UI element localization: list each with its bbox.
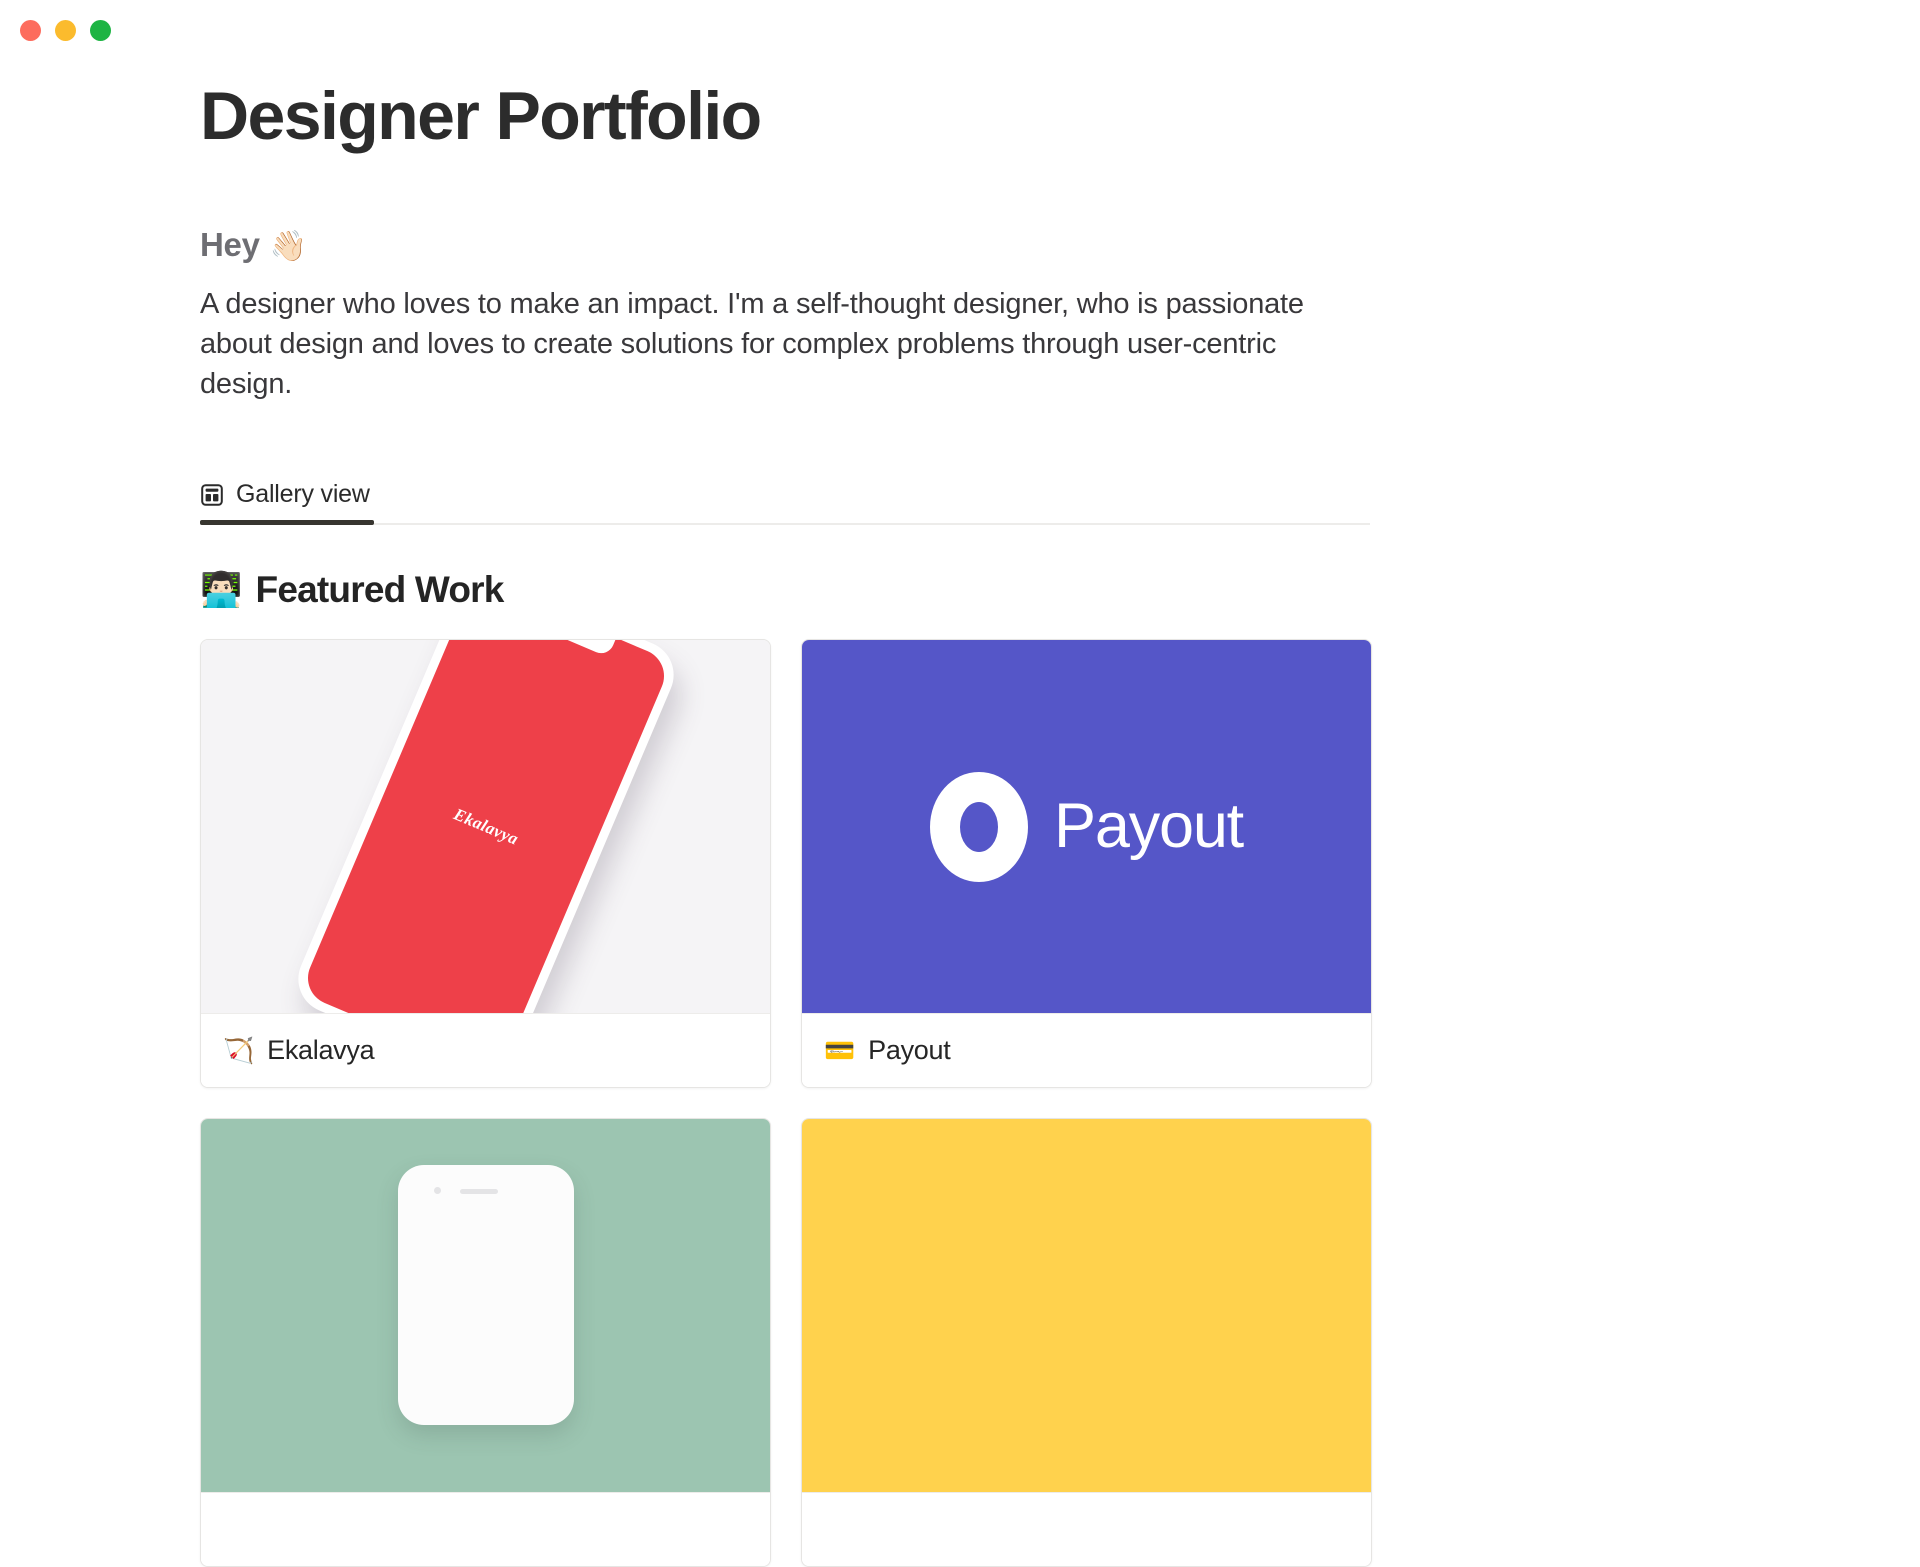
view-tabs: Gallery view — [200, 476, 1370, 525]
page-container: Designer Portfolio Hey 👋🏻 A designer who… — [200, 0, 1372, 1200]
greeting-text: Hey — [200, 226, 260, 264]
credit-card-icon: 💳 — [824, 1038, 855, 1063]
minimize-window-button[interactable] — [55, 20, 76, 41]
card-footer-payout: 💳 Payout — [802, 1013, 1371, 1087]
card-cover-image-third — [201, 1119, 770, 1492]
payout-ring-logo-icon — [930, 772, 1028, 882]
gallery-card-third[interactable] — [200, 1118, 771, 1567]
waving-hand-icon: 👋🏻 — [270, 229, 307, 264]
gallery-grid-icon — [200, 483, 224, 507]
bow-and-arrow-icon: 🏹 — [223, 1038, 254, 1063]
gallery-card-payout[interactable]: Payout 💳 Payout — [801, 639, 1372, 1088]
payout-wordmark: Payout — [1054, 795, 1243, 858]
page-title: Designer Portfolio — [200, 82, 1372, 150]
close-window-button[interactable] — [20, 20, 41, 41]
gallery-grid: Ekalavya 🏹 Ekalavya Payout 💳 — [200, 639, 1372, 1567]
tab-gallery-view-label: Gallery view — [236, 480, 370, 509]
gallery-card-ekalavya[interactable]: Ekalavya 🏹 Ekalavya — [200, 639, 771, 1088]
card-footer-ekalavya: 🏹 Ekalavya — [201, 1013, 770, 1087]
card-cover-image-fourth — [802, 1119, 1371, 1492]
phone-mockup-icon: Ekalavya — [287, 640, 683, 1013]
greeting-heading: Hey 👋🏻 — [200, 226, 1372, 264]
maximize-window-button[interactable] — [90, 20, 111, 41]
phone-screen-brand-text: Ekalavya — [450, 804, 521, 849]
window-traffic-lights — [20, 20, 111, 41]
card-title-ekalavya: Ekalavya — [267, 1035, 374, 1066]
intro-paragraph: A designer who loves to make an impact. … — [200, 284, 1340, 404]
card-cover-image-payout: Payout — [802, 640, 1371, 1013]
gallery-card-fourth[interactable] — [801, 1118, 1372, 1567]
tab-gallery-view[interactable]: Gallery view — [200, 476, 398, 525]
section-heading-featured-work: 👨🏻‍💻 Featured Work — [200, 569, 1372, 611]
card-footer-third — [201, 1492, 770, 1566]
technologist-icon: 👨🏻‍💻 — [200, 573, 242, 607]
section-heading-label: Featured Work — [256, 569, 504, 611]
active-tab-underline — [200, 520, 374, 525]
card-footer-fourth — [802, 1492, 1371, 1566]
card-title-payout: Payout — [868, 1035, 950, 1066]
card-cover-image-ekalavya: Ekalavya — [201, 640, 770, 1013]
phone-mockup-icon — [398, 1165, 574, 1425]
